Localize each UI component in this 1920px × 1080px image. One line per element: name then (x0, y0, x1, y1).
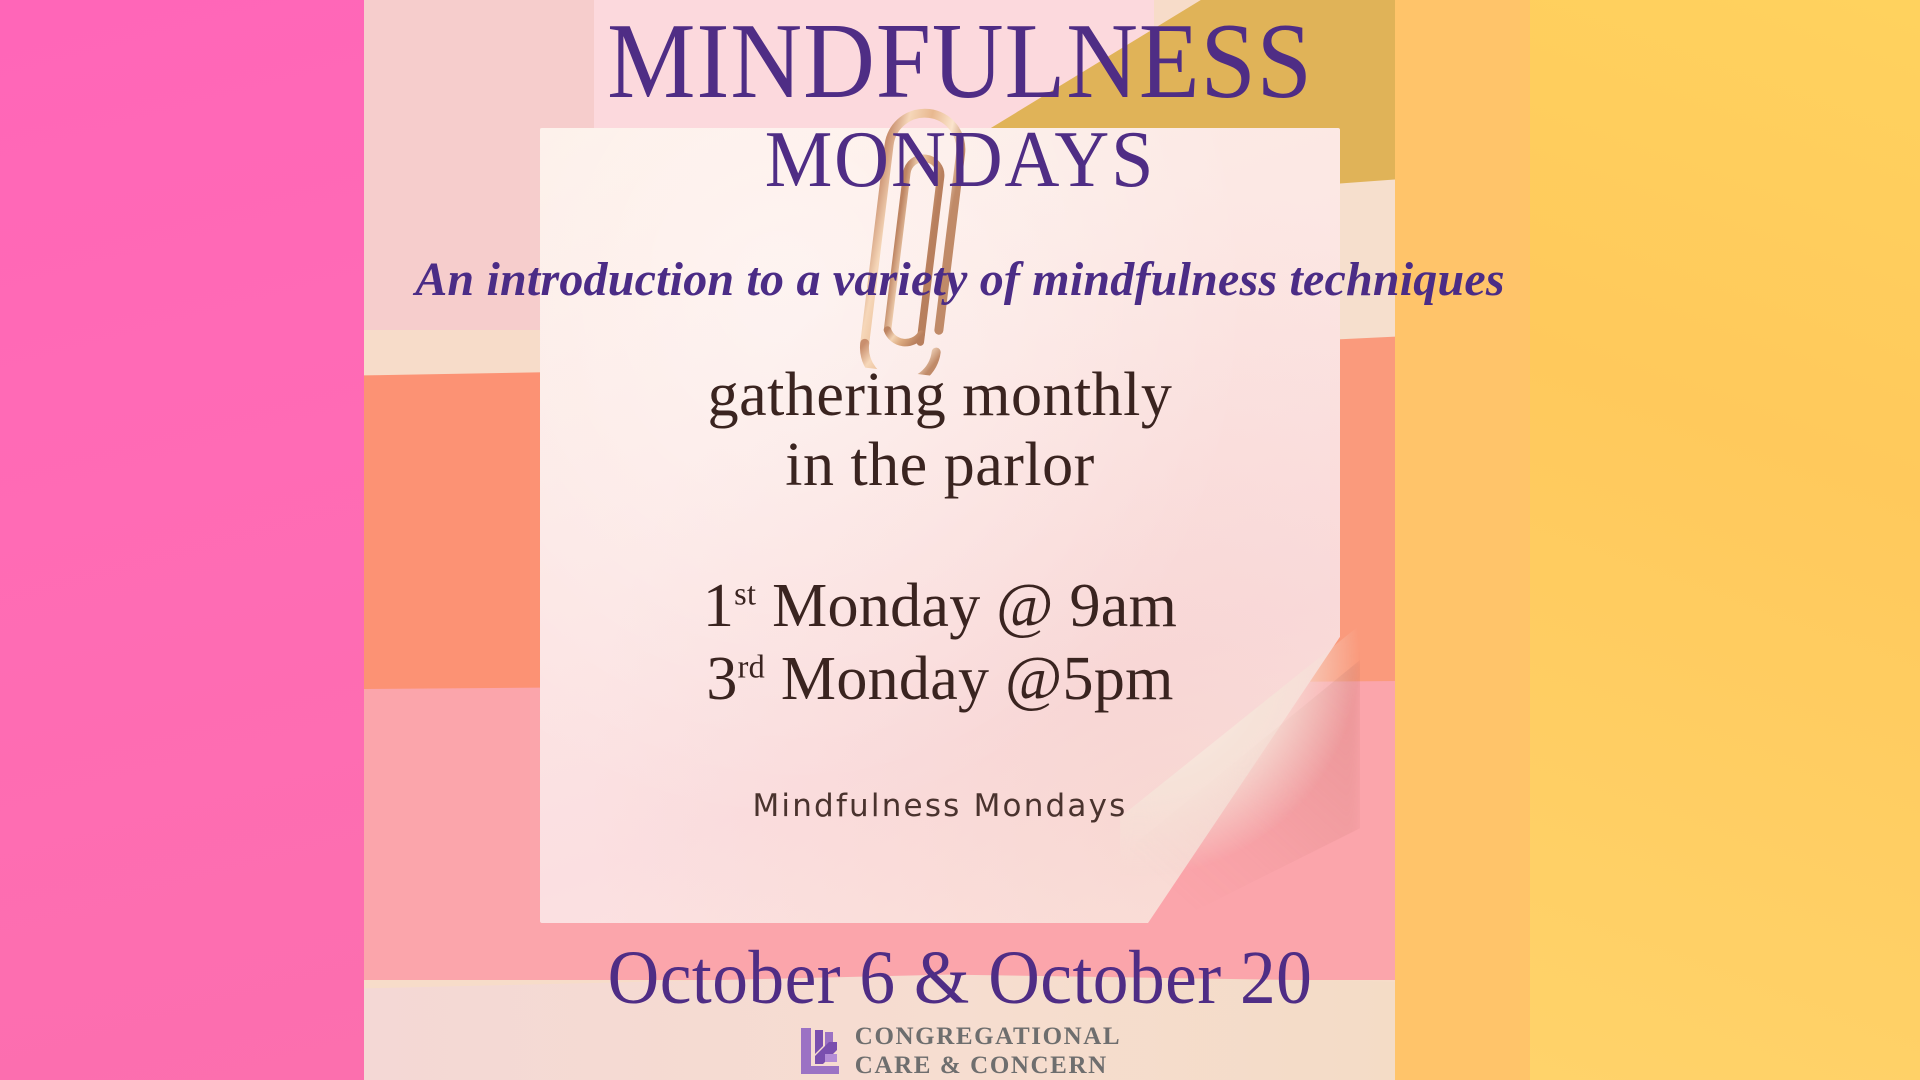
organization-logo: CONGREGATIONAL CARE & CONCERN (0, 1022, 1920, 1080)
logo-wordmark: CONGREGATIONAL CARE & CONCERN (855, 1022, 1121, 1080)
gathering-line-2: in the parlor (540, 430, 1340, 500)
title-line-2: MONDAYS (48, 118, 1872, 203)
note-card-content: gathering monthly in the parlor 1st Mond… (540, 360, 1340, 824)
gathering-line-1: gathering monthly (540, 360, 1340, 430)
meeting-time-1: 1st Monday @ 9am (540, 570, 1340, 643)
time-1-number: 1 (703, 572, 734, 640)
note-card-caption: Mindfulness Mondays (540, 788, 1340, 824)
poster-canvas: MINDFULNESS MONDAYS An introduction to a… (0, 0, 1920, 1080)
meeting-times: 1st Monday @ 9am 3rd Monday @5pm (540, 570, 1340, 716)
event-date: October 6 & October 20 (58, 935, 1863, 1022)
meeting-time-2: 3rd Monday @5pm (540, 643, 1340, 716)
title-line-1: MINDFULNESS (77, 8, 1843, 116)
gathering-text: gathering monthly in the parlor (540, 360, 1340, 500)
poster-subtitle: An introduction to a variety of mindfuln… (0, 252, 1920, 307)
time-1-rest: Monday @ 9am (756, 572, 1177, 640)
time-2-ordinal: rd (738, 649, 765, 685)
congregational-care-logo-icon (799, 1026, 841, 1076)
logo-line-1: CONGREGATIONAL (855, 1022, 1121, 1051)
time-2-number: 3 (706, 645, 737, 713)
time-1-ordinal: st (734, 575, 756, 611)
time-2-rest: Monday @5pm (765, 645, 1174, 713)
logo-line-2: CARE & CONCERN (855, 1051, 1121, 1080)
poster-title: MINDFULNESS MONDAYS (0, 8, 1920, 203)
